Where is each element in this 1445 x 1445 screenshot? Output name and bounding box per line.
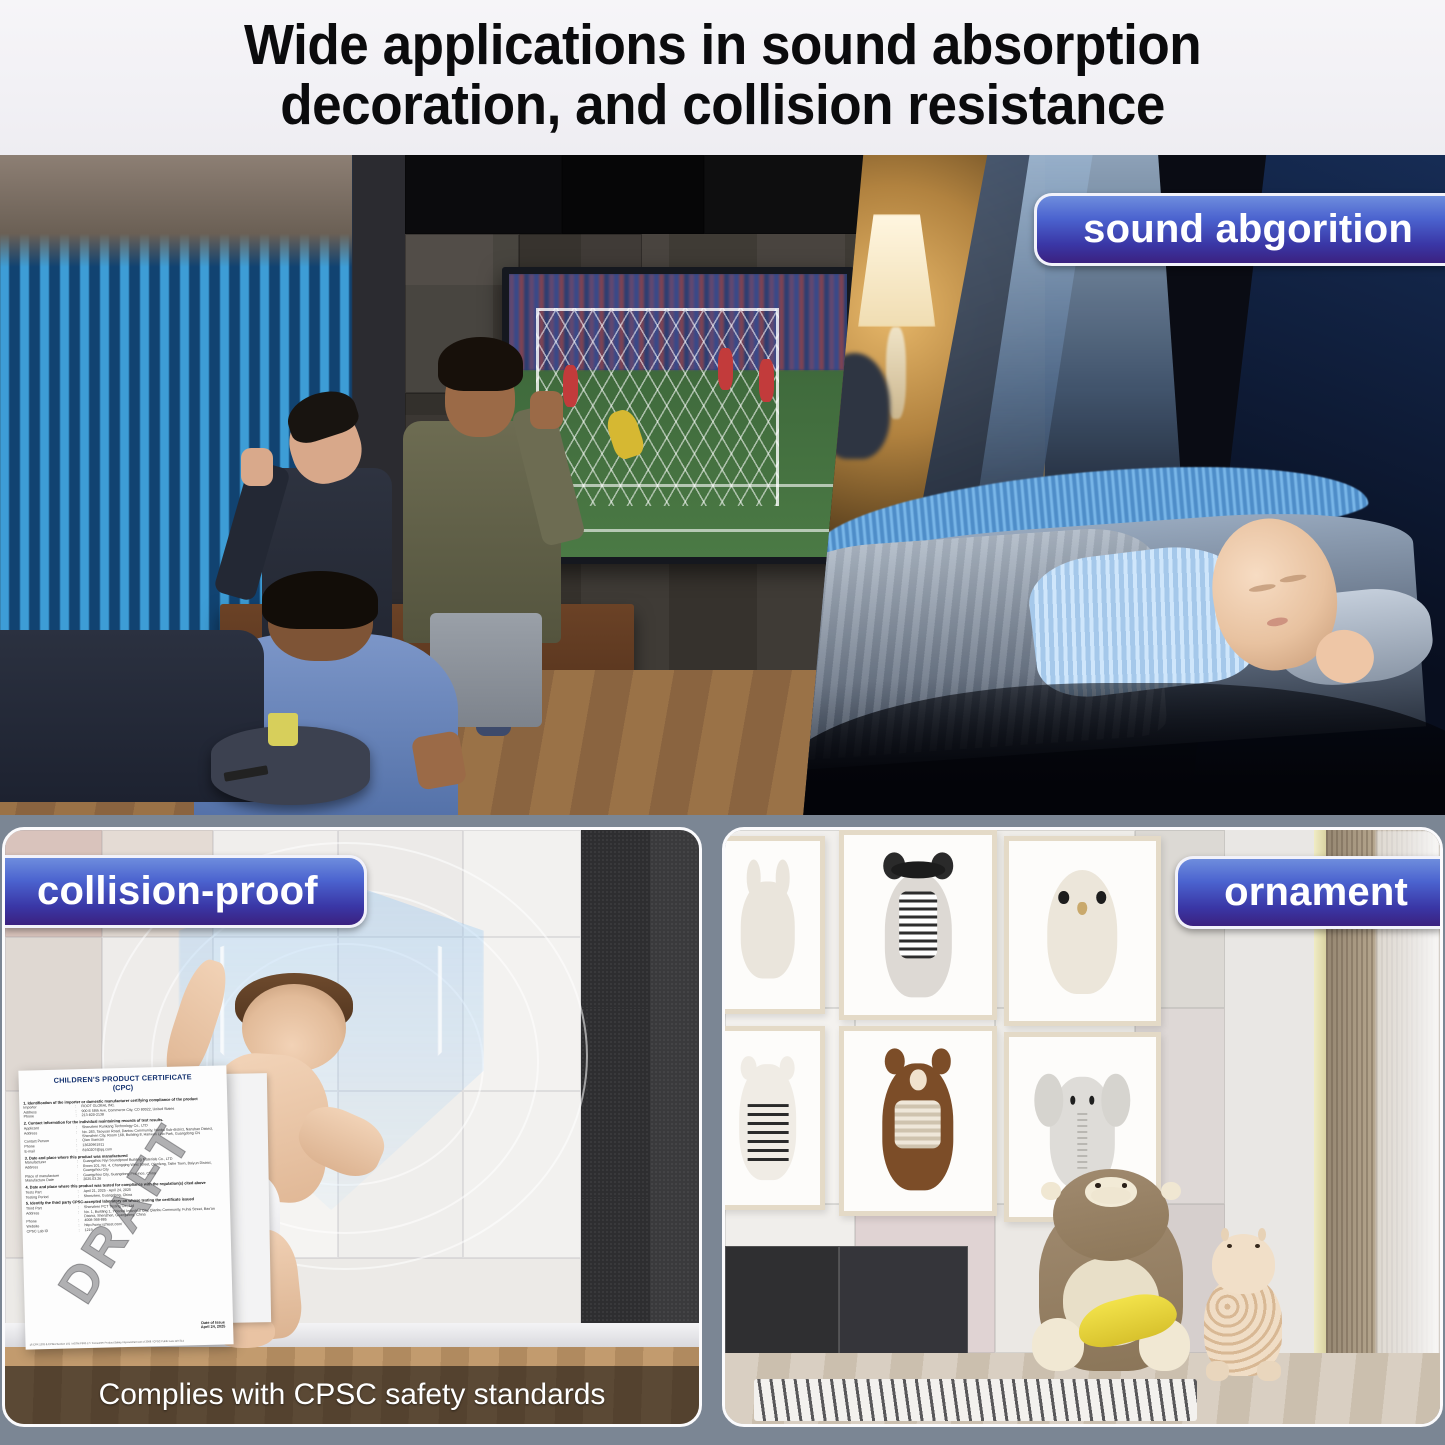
badge-ornament[interactable]: ornament — [1175, 856, 1442, 929]
poster-frame-owl — [1004, 836, 1161, 1026]
cpsc-compliance-caption: Complies with CPSC safety standards — [5, 1366, 699, 1424]
fist — [530, 391, 563, 429]
hair — [262, 571, 378, 629]
giraffe-plush-toy — [1197, 1234, 1290, 1377]
dark-acoustic-panel-right — [650, 830, 699, 1347]
giraffe-head — [1212, 1234, 1275, 1294]
badge-collision-proof[interactable]: collision-proof — [3, 855, 367, 928]
hair — [438, 337, 523, 391]
page-title: Wide applications in sound absorption de… — [244, 16, 1201, 139]
panel-sound-absorption: sound abgorition — [800, 155, 1445, 815]
badge-label: ornament — [1224, 870, 1408, 915]
coffee-mug — [268, 713, 298, 746]
player-3 — [759, 359, 774, 401]
product-infographic: Wide applications in sound absorption de… — [0, 0, 1445, 1445]
raccoon-illustration — [878, 849, 958, 1000]
page-header: Wide applications in sound absorption de… — [0, 0, 1445, 155]
curtain-header — [0, 155, 352, 267]
striped-rug — [754, 1379, 1197, 1421]
monkey-muzzle — [1091, 1187, 1131, 1204]
caption-text: Complies with CPSC safety standards — [99, 1378, 606, 1412]
poster-frame-brown-bear — [839, 1026, 996, 1216]
home-theater-scene — [0, 155, 880, 815]
bottom-panel-row: CHILDREN'S PRODUCT CERTIFICATE (CPC) 1. … — [0, 827, 1445, 1427]
monkey-head — [1053, 1169, 1170, 1262]
certificate-footnote: 16 CFR 1303 & CPSIA Section 101 / ASTM F… — [30, 1338, 230, 1346]
dark-acoustic-panel-b — [839, 1246, 968, 1359]
panel-collision-proof: CHILDREN'S PRODUCT CERTIFICATE (CPC) 1. … — [2, 827, 702, 1427]
page-title-line-1: Wide applications in sound absorption — [244, 13, 1201, 77]
rabbit-illustration — [737, 864, 800, 985]
player-2 — [718, 348, 733, 390]
badge-label: sound abgorition — [1083, 207, 1413, 252]
polar-bear-illustration — [736, 1050, 801, 1186]
monkey-hand-left — [1032, 1318, 1083, 1371]
badge-label: collision-proof — [37, 869, 318, 914]
poster-frame-raccoon — [839, 830, 996, 1020]
baby-mouth — [1266, 616, 1288, 627]
issue-date: April 24, 2025 — [201, 1324, 226, 1329]
dark-acoustic-panel-upper — [581, 830, 650, 1008]
fist — [241, 448, 273, 486]
panel-home-theater — [0, 155, 880, 815]
poster-frame-rabbit — [725, 836, 825, 1014]
panel-ornament: ornament — [722, 827, 1443, 1427]
gesturing-hand — [411, 731, 467, 791]
dark-acoustic-panel-mid — [581, 1008, 650, 1198]
top-panel-row: sound abgorition — [0, 155, 1445, 815]
dark-acoustic-panel-a — [725, 1246, 839, 1359]
cpc-certificate-document: CHILDREN'S PRODUCT CERTIFICATE (CPC) 1. … — [19, 1065, 234, 1350]
certificate-issue-block: Date of Issue April 24, 2025 — [201, 1320, 226, 1329]
badge-sound-absorption[interactable]: sound abgorition — [1034, 193, 1445, 266]
poster-frame-polar-bear — [725, 1026, 825, 1210]
monkey-plush-toy — [1025, 1169, 1197, 1371]
brown-bear-illustration — [877, 1045, 959, 1196]
page-title-line-2: decoration, and collision resistance — [280, 73, 1165, 137]
owl-illustration — [1043, 859, 1123, 1003]
